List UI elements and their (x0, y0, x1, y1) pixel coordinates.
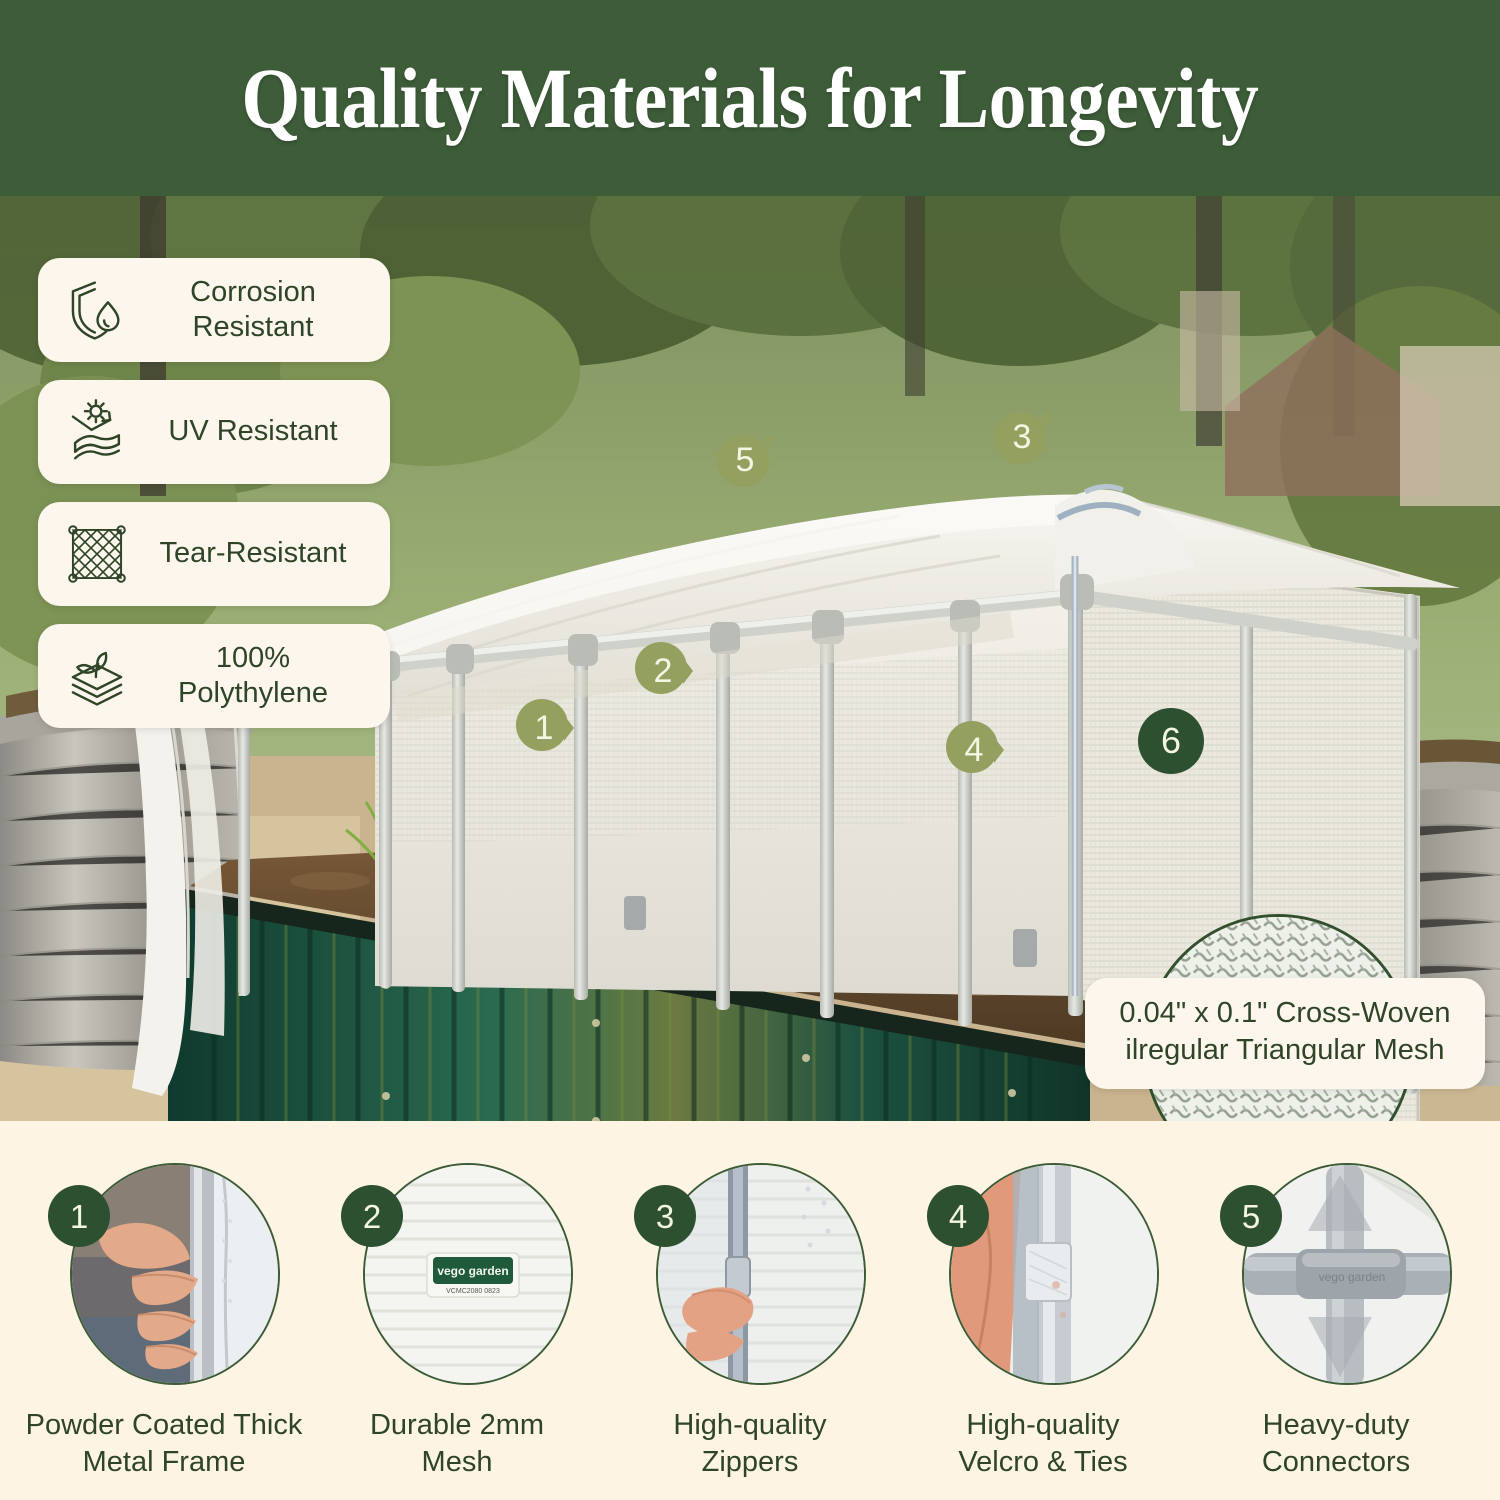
shield-droplet-icon (60, 273, 134, 347)
mesh-net-icon (60, 517, 134, 591)
thumbnail-badge-4: 4 (927, 1185, 989, 1247)
feature-thumbnail-strip: 1 Powder Coated ThickMetal Frame (0, 1121, 1500, 1500)
callout-marker-5[interactable]: 5 (715, 429, 777, 491)
callout-number-5: 5 (715, 429, 777, 491)
layered-sheets-leaf-icon (60, 639, 134, 713)
feature-badge-corrosion-resistant: CorrosionResistant (38, 258, 390, 362)
thumbnail-item-1: 1 Powder Coated ThickMetal Frame (22, 1163, 306, 1481)
vego-garden-label-text: vego garden (437, 1264, 508, 1278)
mesh-detail-caption: 0.04" x 0.1" Cross-Woven ilregular Trian… (1085, 978, 1485, 1089)
feature-badge-list: CorrosionResistant UV Resistant (38, 258, 390, 728)
thumbnail-badge-2: 2 (341, 1185, 403, 1247)
feature-badge-polythylene: 100%Polythylene (38, 624, 390, 728)
feature-label-corrosion-resistant: CorrosionResistant (134, 275, 376, 346)
feature-label-tear-resistant: Tear-Resistant (134, 536, 376, 571)
thumbnail-badge-5: 5 (1220, 1185, 1282, 1247)
callout-number-1: 1 (514, 697, 576, 759)
callout-marker-1[interactable]: 1 (514, 697, 576, 759)
infographic-page: Quality Materials for Longevity (0, 0, 1500, 1500)
callout-number-2: 2 (633, 640, 695, 702)
callout-marker-4[interactable]: 4 (944, 719, 1006, 781)
mesh-caption-line2: ilregular Triangular Mesh (1101, 1032, 1469, 1069)
feature-label-uv-resistant: UV Resistant (134, 414, 376, 449)
thumbnail-caption-5: Heavy-dutyConnectors (1191, 1407, 1481, 1481)
thumbnail-caption-1: Powder Coated ThickMetal Frame (19, 1407, 309, 1481)
callout-number-3: 3 (992, 406, 1054, 468)
callout-marker-2[interactable]: 2 (633, 640, 695, 702)
feature-badge-uv-resistant: UV Resistant (38, 380, 390, 484)
page-title: Quality Materials for Longevity (241, 48, 1258, 148)
thumbnail-caption-3: High-qualityZippers (605, 1407, 895, 1481)
thumbnail-item-2: vego garden VCMC2080 0823 2 Durable 2mmM… (315, 1163, 599, 1481)
thumbnail-item-3: 3 High-qualityZippers (608, 1163, 892, 1481)
feature-label-polythylene: 100%Polythylene (134, 641, 376, 712)
callout-number-4: 4 (944, 719, 1006, 781)
label-code-text: VCMC2080 0823 (446, 1288, 500, 1295)
connector-brand-text: vego garden (1319, 1270, 1386, 1284)
thumbnail-badge-3: 3 (634, 1185, 696, 1247)
callout-marker-6[interactable]: 6 (1138, 708, 1204, 774)
mesh-caption-line1: 0.04" x 0.1" Cross-Woven (1101, 995, 1469, 1032)
thumbnail-item-5: vego garden 5 Heavy-dutyConnectors (1194, 1163, 1478, 1481)
header-band: Quality Materials for Longevity (0, 0, 1500, 196)
feature-badge-tear-resistant: Tear-Resistant (38, 502, 390, 606)
callout-marker-3[interactable]: 3 (992, 406, 1054, 468)
thumbnail-caption-2: Durable 2mmMesh (312, 1407, 602, 1481)
thumbnail-item-4: 4 High-qualityVelcro & Ties (901, 1163, 1185, 1481)
sun-fabric-icon (60, 395, 134, 469)
thumbnail-caption-4: High-qualityVelcro & Ties (898, 1407, 1188, 1481)
thumbnail-badge-1: 1 (48, 1185, 110, 1247)
